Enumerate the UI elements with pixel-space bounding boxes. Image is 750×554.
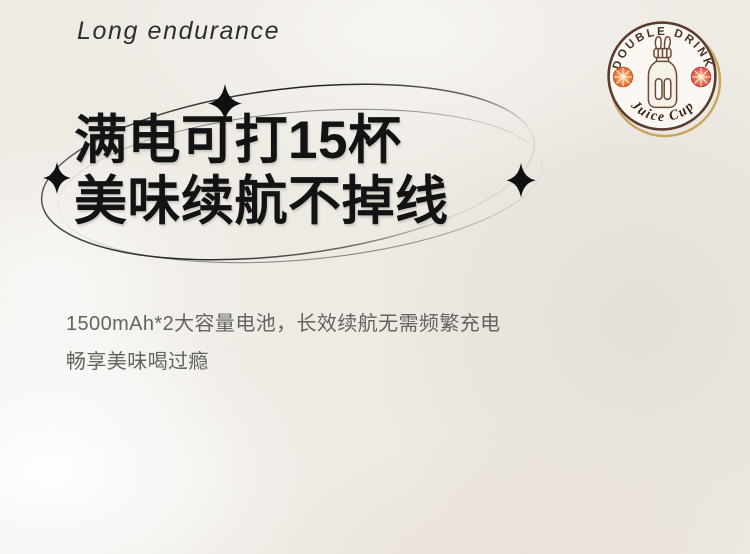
background-shade-bottom — [260, 424, 750, 554]
headline-line-2: 美味续航不掉线 — [74, 171, 449, 232]
brand-badge: DOUBLE DRINK Juice Cup — [601, 15, 725, 139]
marketing-banner: Long endurance — [0, 0, 750, 554]
sparkle-right-icon — [506, 163, 536, 198]
body-copy: 1500mAh*2大容量电池，长效续航无需频繁充电 畅享美味喝过瘾 — [66, 305, 501, 382]
body-copy-line-2: 畅享美味喝过瘾 — [66, 343, 501, 381]
citrus-slice-left-icon — [613, 67, 632, 86]
headline: 满电可打15杯 美味续航不掉线 — [74, 110, 449, 233]
eyebrow-title: Long endurance — [77, 17, 280, 46]
body-copy-line-1: 1500mAh*2大容量电池，长效续航无需频繁充电 — [66, 305, 501, 343]
citrus-slice-right-icon — [691, 67, 710, 86]
headline-line-1: 满电可打15杯 — [74, 110, 449, 171]
sparkle-left-icon — [43, 162, 71, 194]
